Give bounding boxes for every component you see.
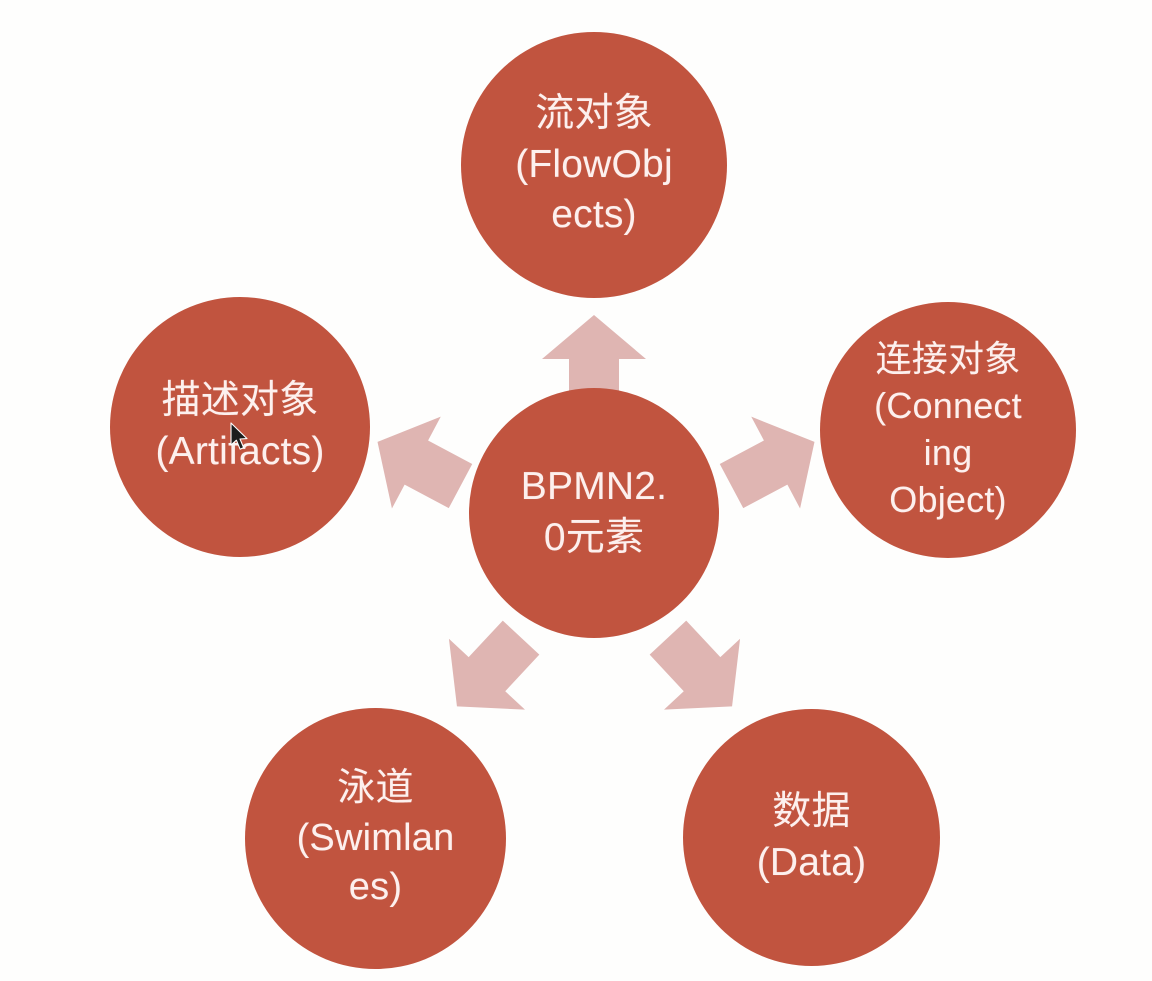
node-connecting-object-label: 连接对象 (Connect ing Object) [820,336,1076,523]
node-swimlanes-label: 泳道 (Swimlan es) [245,764,506,912]
node-data[interactable]: 数据 (Data) [683,709,940,966]
block-arrow-icon-left [349,392,489,536]
node-data-label: 数据 (Data) [683,787,940,888]
node-flow-objects[interactable]: 流对象 (FlowObj ects) [461,32,727,298]
node-artifacts-label: 描述对象 (Artifacts) [110,376,370,477]
node-flow-objects-label: 流对象 (FlowObj ects) [461,89,727,241]
diagram-canvas: 流对象 (FlowObj ects) 连接对象 (Connect ing Obj… [0,0,1152,981]
node-artifacts[interactable]: 描述对象 (Artifacts) [110,297,370,557]
node-connecting-object[interactable]: 连接对象 (Connect ing Object) [820,302,1076,558]
node-bpmn-center-label: BPMN2. 0元素 [469,462,719,563]
node-swimlanes[interactable]: 泳道 (Swimlan es) [245,708,506,969]
node-bpmn-center[interactable]: BPMN2. 0元素 [469,388,719,638]
